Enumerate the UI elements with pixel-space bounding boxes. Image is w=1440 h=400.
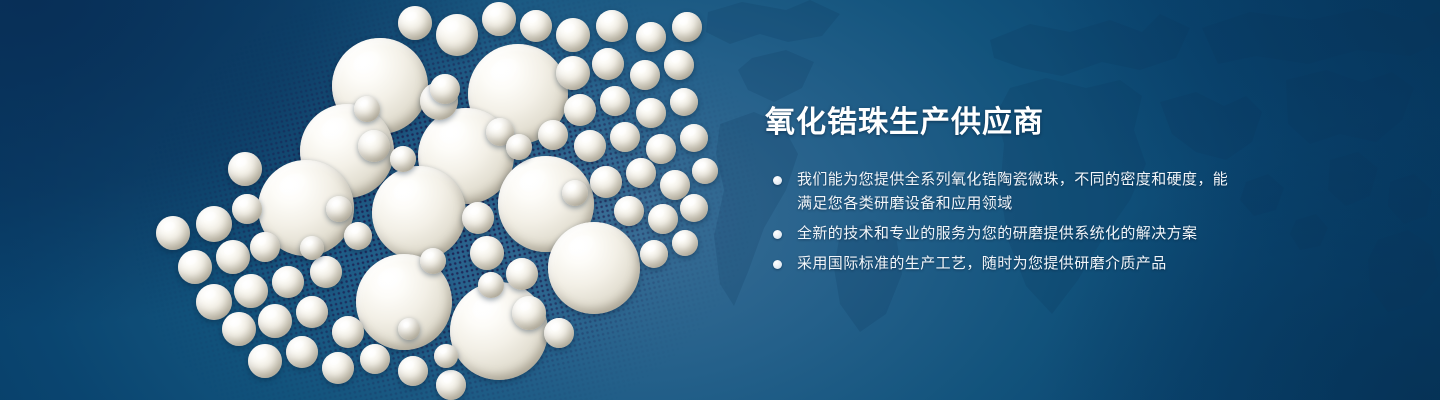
- list-item-label: 全新的技术和专业的服务为您的研磨提供系统化的解决方案: [797, 225, 1197, 242]
- page-title: 氧化锆珠生产供应商: [765, 104, 1235, 142]
- feature-bullet-list: 我们能为您提供全系列氧化锆陶瓷微珠，不同的密度和硬度，能满足您各类研磨设备和应用…: [765, 168, 1235, 276]
- list-item-label: 我们能为您提供全系列氧化锆陶瓷微珠，不同的密度和硬度，能满足您各类研磨设备和应用…: [797, 171, 1228, 212]
- list-item: 我们能为您提供全系列氧化锆陶瓷微珠，不同的密度和硬度，能满足您各类研磨设备和应用…: [765, 168, 1235, 216]
- bullet-dot-icon: [773, 230, 782, 239]
- banner-copy: 氧化锆珠生产供应商 我们能为您提供全系列氧化锆陶瓷微珠，不同的密度和硬度，能满足…: [765, 104, 1235, 276]
- hero-banner: 氧化锆珠生产供应商 我们能为您提供全系列氧化锆陶瓷微珠，不同的密度和硬度，能满足…: [0, 0, 1440, 400]
- list-item: 全新的技术和专业的服务为您的研磨提供系统化的解决方案: [765, 222, 1235, 246]
- bullet-dot-icon: [773, 260, 782, 269]
- bullet-dot-icon: [773, 176, 782, 185]
- list-item: 采用国际标准的生产工艺，随时为您提供研磨介质产品: [765, 252, 1235, 276]
- list-item-label: 采用国际标准的生产工艺，随时为您提供研磨介质产品: [797, 255, 1167, 272]
